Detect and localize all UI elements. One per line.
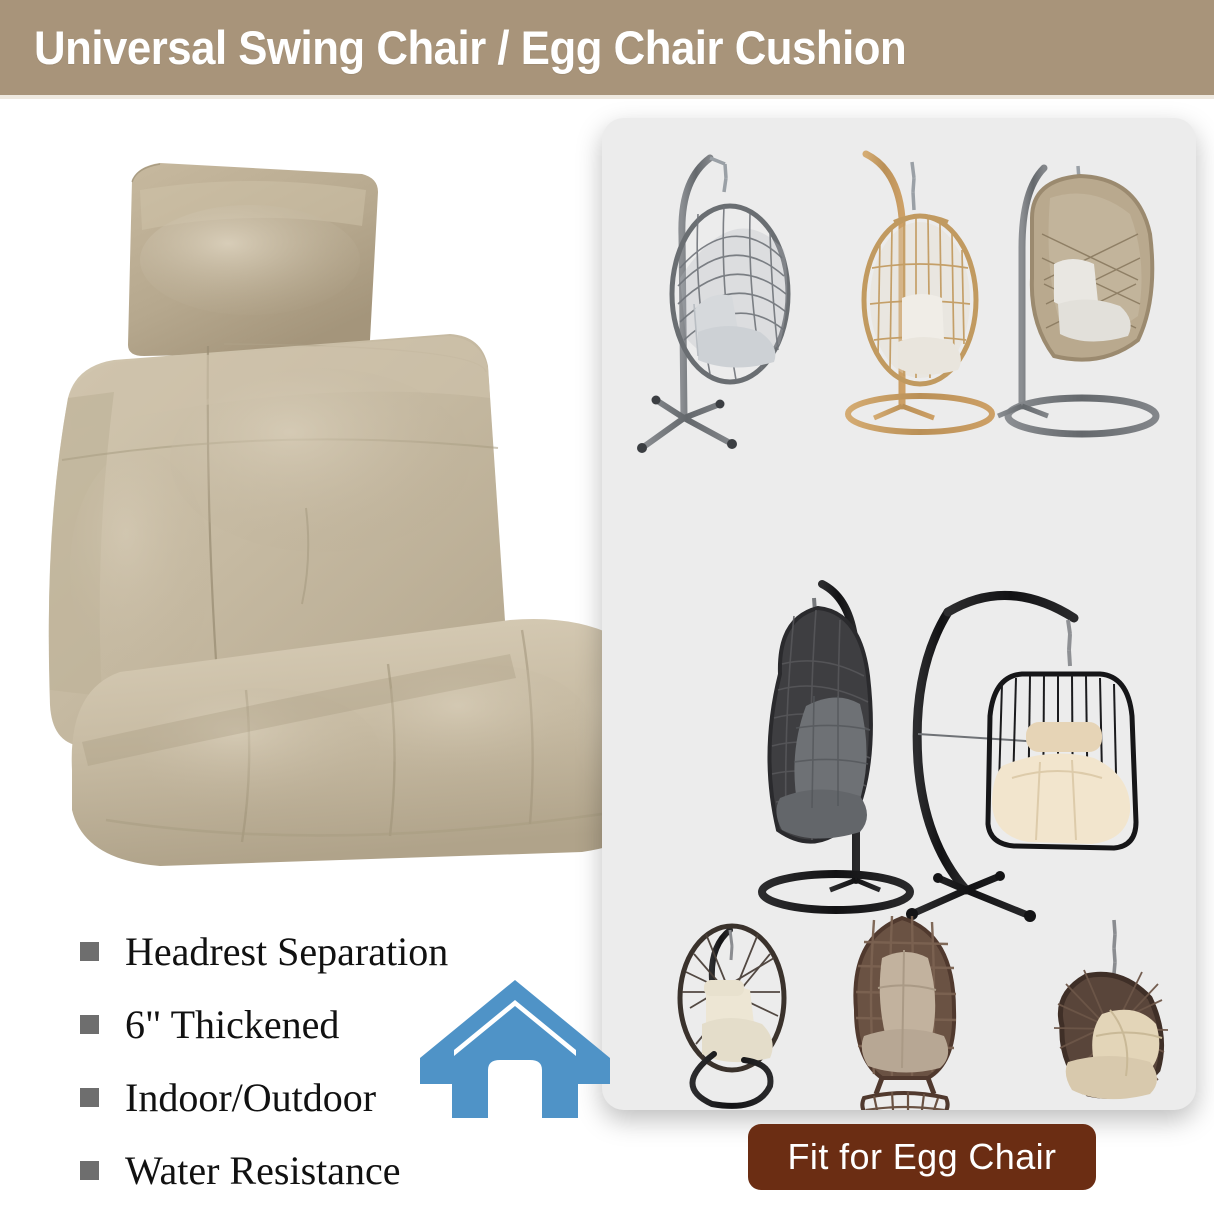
chair-tan-rattan-egg — [848, 154, 992, 432]
bullet-square-icon — [80, 942, 99, 961]
compatible-chairs-panel — [602, 118, 1196, 1110]
chair-dark-gray-woven-egg — [762, 584, 910, 910]
header-banner: Universal Swing Chair / Egg Chair Cushio… — [0, 0, 1214, 95]
page-title: Universal Swing Chair / Egg Chair Cushio… — [34, 20, 906, 75]
feature-label: Headrest Separation — [125, 932, 448, 972]
bullet-square-icon — [80, 1088, 99, 1107]
chair-gray-woven-egg — [637, 158, 788, 453]
feature-label: Indoor/Outdoor — [125, 1078, 376, 1118]
header-divider — [0, 95, 1214, 99]
chair-brown-swivel-egg — [855, 916, 956, 1110]
bullet-square-icon — [80, 1015, 99, 1034]
fit-for-egg-chair-badge: Fit for Egg Chair — [748, 1124, 1096, 1190]
product-infographic: Universal Swing Chair / Egg Chair Cushio… — [0, 0, 1214, 1214]
house-icon — [418, 978, 612, 1118]
feature-label: 6" Thickened — [125, 1005, 339, 1045]
feature-label: Water Resistance — [125, 1151, 401, 1191]
headrest-pillow — [128, 163, 378, 356]
chair-black-frame-egg — [906, 595, 1136, 922]
chair-dark-wicker-egg — [680, 926, 784, 1106]
bullet-square-icon — [80, 1161, 99, 1180]
badge-label: Fit for Egg Chair — [788, 1136, 1057, 1178]
chair-brown-hanging-basket — [1054, 920, 1168, 1099]
list-item: Water Resistance — [80, 1134, 550, 1207]
chair-brown-wicker-egg — [998, 166, 1156, 434]
